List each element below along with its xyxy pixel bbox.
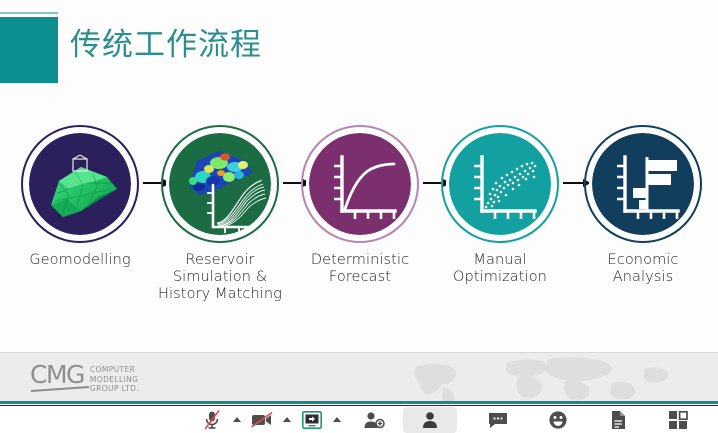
presentation-slide: 传统工作流程	[0, 0, 718, 352]
share-options-caret[interactable]	[329, 407, 345, 433]
audio-options-caret[interactable]	[229, 407, 245, 433]
manage-participants-button[interactable]	[357, 407, 391, 433]
chevron-up-icon	[283, 417, 291, 422]
step-circle	[301, 125, 419, 243]
camera-stopped-icon	[251, 412, 273, 428]
person-icon	[420, 411, 440, 429]
circle-inner-ring	[26, 130, 134, 238]
workflow-diagram: Geomodelling	[0, 125, 718, 325]
step-label: Economic Analysis	[573, 252, 713, 286]
step-label: Geomodelling	[10, 252, 150, 269]
step-circle	[584, 125, 702, 243]
workflow-step-reservoir-simulation[interactable]: Reservoir Simulation & History Matching	[150, 125, 290, 303]
cmg-logo-line-1: COMPUTER	[90, 365, 139, 375]
step-label: Manual Optimization	[430, 252, 570, 286]
participant-add-icon	[363, 411, 385, 429]
smiley-face-icon	[548, 410, 568, 430]
workflow-step-deterministic-forecast[interactable]: Deterministic Forecast	[290, 125, 430, 286]
zoom-shared-screen-window: 传统工作流程	[0, 0, 718, 433]
apps-grid-icon	[668, 410, 688, 430]
participants-button[interactable]	[403, 407, 457, 433]
title-accent-block	[0, 17, 58, 83]
circle-inner-ring	[589, 130, 697, 238]
step-label: Deterministic Forecast	[290, 252, 430, 286]
workflow-step-geomodelling[interactable]: Geomodelling	[10, 125, 150, 269]
cmg-logo: CMG COMPUTER MODELLING GROUP LTD.	[30, 362, 139, 394]
cmg-logo-text: COMPUTER MODELLING GROUP LTD.	[90, 362, 139, 394]
forecast-curve-icon	[309, 133, 414, 238]
video-options-caret[interactable]	[279, 407, 295, 433]
document-icon	[610, 410, 626, 430]
tornado-chart-icon	[592, 133, 697, 238]
world-map-watermark	[398, 353, 698, 404]
step-circle	[21, 125, 139, 243]
page-title: 传统工作流程	[70, 23, 262, 67]
slide-footer: CMG COMPUTER MODELLING GROUP LTD.	[0, 352, 718, 404]
circle-inner-ring	[166, 130, 274, 238]
reactions-button[interactable]	[541, 407, 575, 433]
cmg-logo-mark: CMG	[30, 362, 84, 387]
chat-button[interactable]	[481, 407, 515, 433]
microphone-muted-icon	[203, 410, 221, 430]
zoom-meeting-toolbar	[0, 405, 718, 433]
step-circle	[441, 125, 559, 243]
cmg-logo-line-3: GROUP LTD.	[90, 384, 139, 394]
circle-inner-ring	[306, 130, 414, 238]
circle-inner-ring	[446, 130, 554, 238]
chevron-up-icon	[333, 417, 341, 422]
step-circle	[161, 125, 279, 243]
geological-model-icon	[29, 133, 134, 238]
reservoir-simulation-icon	[169, 133, 274, 238]
scatter-plot-icon	[449, 133, 554, 238]
chat-bubble-icon	[488, 412, 508, 428]
apps-button[interactable]	[661, 407, 695, 433]
workflow-step-manual-optimization[interactable]: Manual Optimization	[430, 125, 570, 286]
chevron-up-icon	[233, 417, 241, 422]
mute-audio-button[interactable]	[195, 407, 229, 433]
share-screen-button[interactable]	[295, 407, 329, 433]
cmg-logo-line-2: MODELLING	[90, 375, 139, 385]
notes-button[interactable]	[601, 407, 635, 433]
workflow-step-economic-analysis[interactable]: Economic Analysis	[573, 125, 713, 286]
step-label: Reservoir Simulation & History Matching	[150, 252, 290, 303]
share-screen-icon	[302, 411, 322, 429]
stop-video-button[interactable]	[245, 407, 279, 433]
